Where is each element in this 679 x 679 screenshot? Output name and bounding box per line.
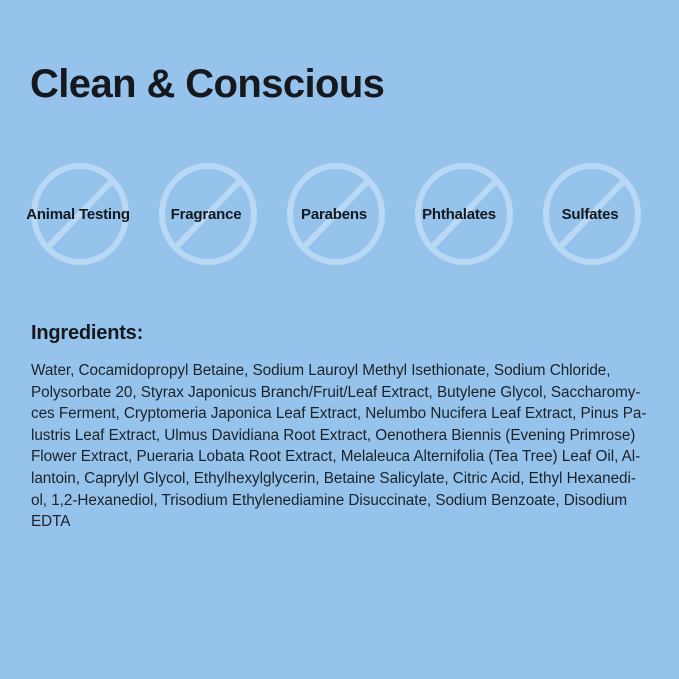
badge-label: Parabens: [282, 206, 386, 223]
badge-sulfates: Sulfates: [542, 162, 642, 266]
badge-parabens: Parabens: [286, 162, 386, 266]
product-info-panel: Clean & Conscious Animal Testing Fragran…: [0, 0, 679, 679]
badge-label: Animal Testing: [26, 206, 130, 223]
badge-label: Sulfates: [538, 206, 642, 223]
badge-label: Phthalates: [404, 206, 514, 223]
badge-animal-testing: Animal Testing: [30, 162, 130, 266]
badge-phthalates: Phthalates: [414, 162, 514, 266]
ingredients-list: Water, Cocamidopropyl Betaine, Sodium La…: [31, 360, 649, 533]
badge-label: Fragrance: [154, 206, 258, 223]
badge-fragrance: Fragrance: [158, 162, 258, 266]
free-from-badge-row: Animal Testing Fragrance Parabens Phthal…: [30, 162, 650, 266]
ingredients-heading: Ingredients:: [31, 322, 143, 345]
page-title: Clean & Conscious: [30, 60, 384, 108]
